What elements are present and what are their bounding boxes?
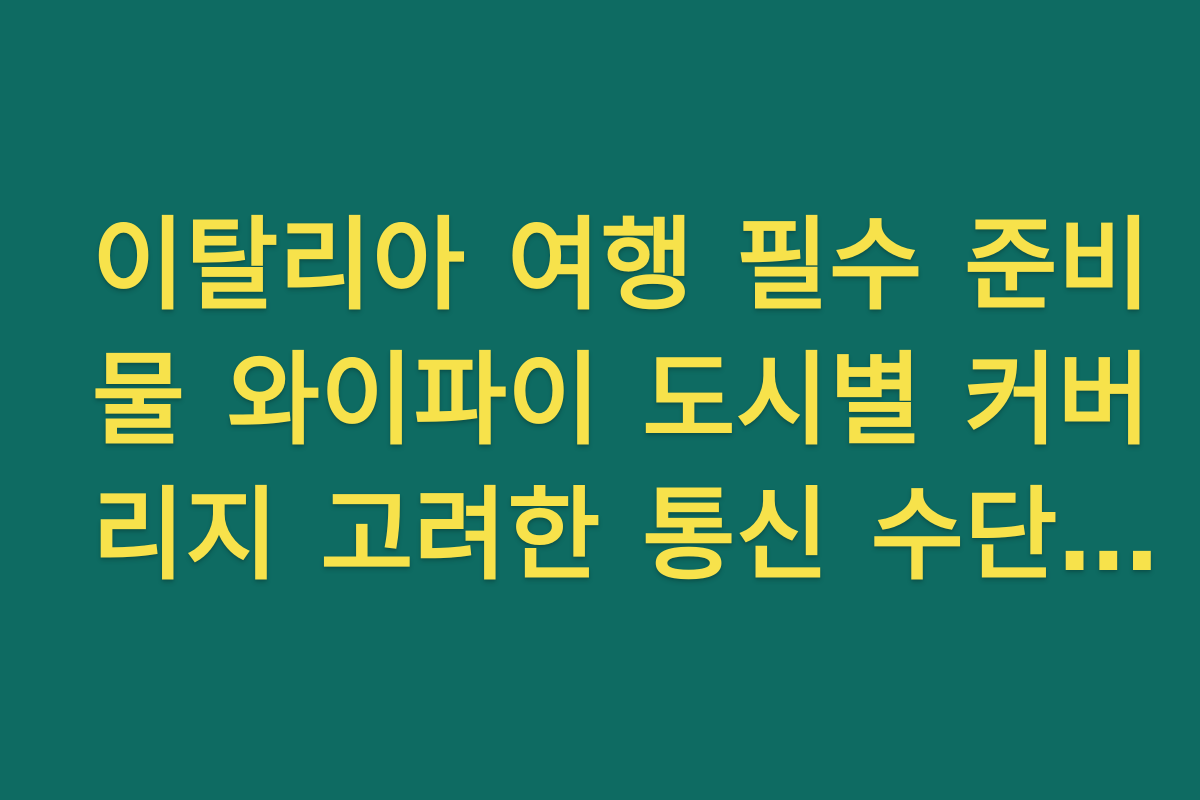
headline-line-3: 리지 고려한 통신 수단… bbox=[92, 468, 1112, 603]
thumbnail-card: 이탈리아 여행 필수 준비 물 와이파이 도시별 커버 리지 고려한 통신 수단… bbox=[0, 0, 1200, 800]
headline-line-1: 이탈리아 여행 필수 준비 bbox=[92, 198, 1112, 333]
headline-text-block: 이탈리아 여행 필수 준비 물 와이파이 도시별 커버 리지 고려한 통신 수단… bbox=[92, 0, 1112, 800]
headline-line-2: 물 와이파이 도시별 커버 bbox=[92, 333, 1112, 468]
